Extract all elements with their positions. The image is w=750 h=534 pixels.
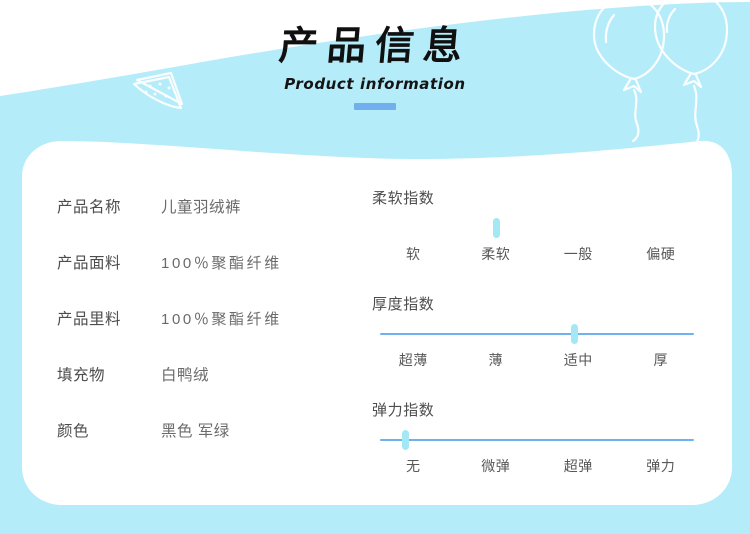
spec-value: 儿童羽绒裤 <box>161 195 241 217</box>
page-title-en: Product information <box>0 75 750 93</box>
slider-thumb[interactable] <box>571 324 578 344</box>
card-content: 产品名称 儿童羽绒裤 产品面料 100％聚酯纤维 产品里料 100％聚酯纤维 填… <box>0 115 750 515</box>
slider-label[interactable]: 一般 <box>537 244 620 264</box>
slider-labels: 软 柔软 一般 偏硬 <box>372 244 702 264</box>
slider-label[interactable]: 无 <box>372 456 455 476</box>
slider-labels: 超薄 薄 适中 厚 <box>372 350 702 370</box>
slider-label[interactable]: 厚 <box>620 350 703 370</box>
slider-label[interactable]: 超薄 <box>372 350 455 370</box>
spec-label: 产品里料 <box>57 307 161 329</box>
slider-label[interactable]: 柔软 <box>455 244 538 264</box>
slider-labels: 无 微弹 超弹 弹力 <box>372 456 702 476</box>
slider-label[interactable]: 超弹 <box>537 456 620 476</box>
product-information-page: 产品信息 Product information 产品名称 儿童羽绒裤 产品面料… <box>0 0 750 534</box>
slider-label[interactable]: 微弹 <box>455 456 538 476</box>
slider-group-elasticity: 弹力指数 无 微弹 超弹 弹力 <box>372 399 702 476</box>
slider-control[interactable] <box>380 429 694 451</box>
spec-value: 黑色 军绿 <box>161 419 230 441</box>
slider-title: 厚度指数 <box>372 293 702 314</box>
slider-group-softness: 柔软指数 软 柔软 一般 偏硬 <box>372 187 702 264</box>
spec-label: 产品面料 <box>57 251 161 273</box>
slider-label[interactable]: 软 <box>372 244 455 264</box>
spec-row: 产品里料 100％聚酯纤维 <box>57 307 357 363</box>
slider-thumb[interactable] <box>493 218 500 238</box>
specification-list: 产品名称 儿童羽绒裤 产品面料 100％聚酯纤维 产品里料 100％聚酯纤维 填… <box>57 195 357 475</box>
spec-row: 产品面料 100％聚酯纤维 <box>57 251 357 307</box>
spec-row: 产品名称 儿童羽绒裤 <box>57 195 357 251</box>
slider-control[interactable] <box>380 323 694 345</box>
slider-control[interactable] <box>380 217 694 239</box>
slider-track <box>380 439 694 441</box>
slider-label[interactable]: 薄 <box>455 350 538 370</box>
page-header: 产品信息 Product information <box>0 26 750 110</box>
spec-row: 填充物 白鸭绒 <box>57 363 357 419</box>
spec-label: 颜色 <box>57 419 161 441</box>
slider-title: 弹力指数 <box>372 399 702 420</box>
slider-label[interactable]: 弹力 <box>620 456 703 476</box>
title-underline-rule <box>354 103 396 110</box>
slider-track <box>380 333 694 335</box>
spec-value: 白鸭绒 <box>161 363 209 385</box>
slider-thumb[interactable] <box>402 430 409 450</box>
index-slider-area: 柔软指数 软 柔软 一般 偏硬 厚度指数 <box>372 187 702 476</box>
slider-label[interactable]: 偏硬 <box>620 244 703 264</box>
spec-label: 填充物 <box>57 363 161 385</box>
spec-label: 产品名称 <box>57 195 161 217</box>
page-title-cn: 产品信息 <box>277 26 473 68</box>
slider-group-thickness: 厚度指数 超薄 薄 适中 厚 <box>372 293 702 370</box>
spec-value: 100％聚酯纤维 <box>161 308 282 329</box>
slider-title: 柔软指数 <box>372 187 702 208</box>
slider-label[interactable]: 适中 <box>537 350 620 370</box>
spec-row: 颜色 黑色 军绿 <box>57 419 357 475</box>
spec-value: 100％聚酯纤维 <box>161 252 282 273</box>
slider-track <box>380 227 694 229</box>
